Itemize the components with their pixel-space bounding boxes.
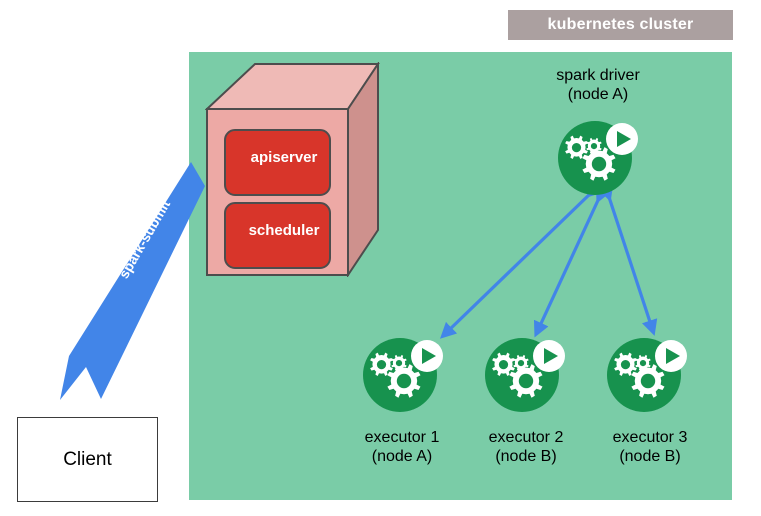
spark-submit-arrow-shape [60, 162, 205, 400]
spark-driver-node[interactable] [553, 113, 645, 195]
play-badge-icon [411, 340, 443, 372]
gears-play-icon [358, 330, 450, 412]
spark-submit-arrow [55, 160, 205, 410]
executor-3-caption: executor 3 (node B) [575, 428, 725, 466]
scheduler-component[interactable] [225, 203, 330, 268]
client-label: Client [63, 449, 112, 471]
client-box[interactable]: Client [17, 417, 158, 502]
play-badge-icon [533, 340, 565, 372]
executor-3-caption-line2: (node B) [575, 447, 725, 466]
gears-play-icon [480, 330, 572, 412]
executor-1-node[interactable] [358, 330, 450, 412]
control-plane-box [205, 62, 380, 277]
play-badge-icon [606, 123, 638, 155]
executor-3-node[interactable] [602, 330, 694, 412]
gears-play-icon [553, 113, 645, 195]
kubernetes-cluster-badge-label: kubernetes cluster [548, 16, 694, 34]
gears-play-icon [602, 330, 694, 412]
spark-driver-caption-line1: spark driver [518, 66, 678, 85]
spark-driver-caption: spark driver (node A) [518, 66, 678, 104]
executor-2-node[interactable] [480, 330, 572, 412]
executor-3-caption-line1: executor 3 [575, 428, 725, 447]
spark-driver-caption-line2: (node A) [518, 85, 678, 104]
kubernetes-cluster-badge: kubernetes cluster [508, 10, 733, 40]
play-badge-icon [655, 340, 687, 372]
apiserver-component[interactable] [225, 130, 330, 195]
diagram-canvas: kubernetes cluster spark-submit apiserve… [0, 0, 761, 516]
